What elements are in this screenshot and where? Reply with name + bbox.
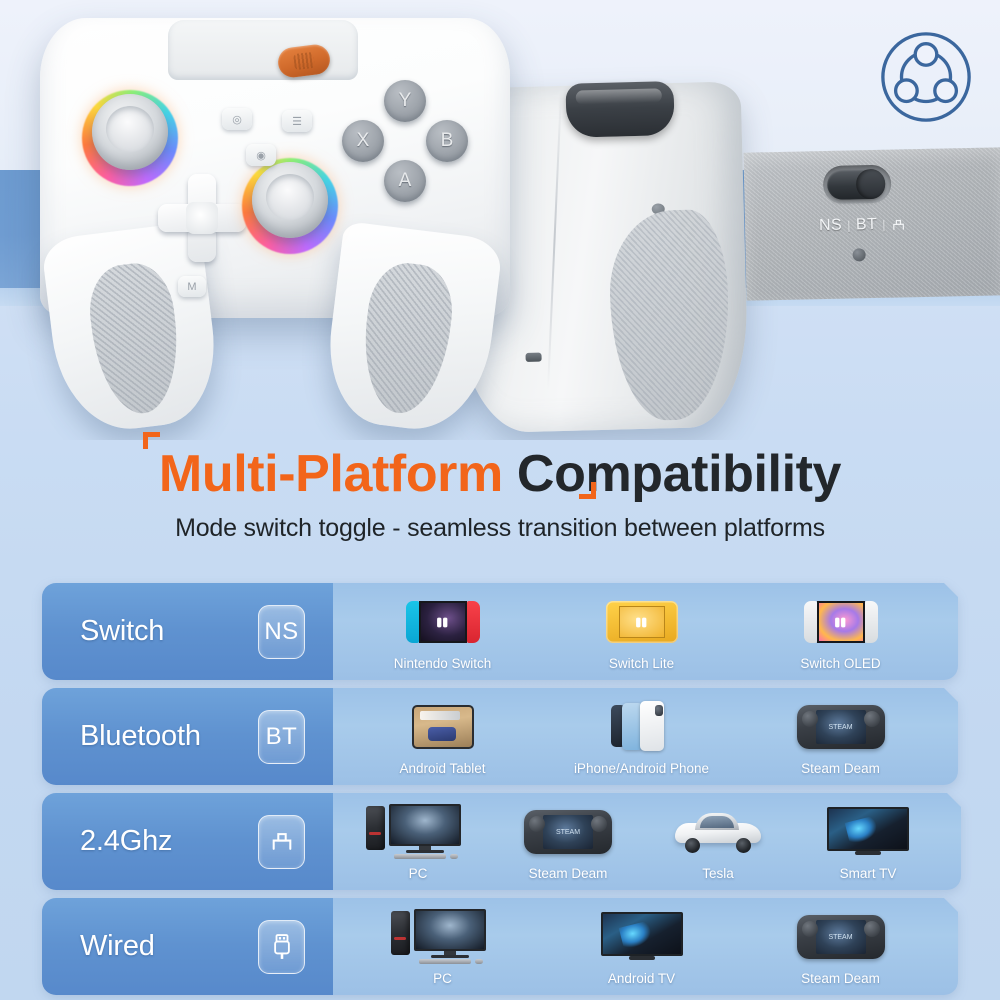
row-device-panel: Android Tablet iPhone/Android Phone STEA… [333, 688, 958, 785]
mode-switch-toggle[interactable] [823, 165, 892, 204]
status-badge: BT [258, 710, 305, 764]
controller-top-panel [168, 20, 358, 80]
dongle-icon [891, 218, 906, 231]
row-label-panel: Wired [42, 898, 333, 995]
rear-seam [547, 90, 562, 390]
list-item-label: Android TV [608, 971, 675, 986]
headline-section: Multi-Platform Compatibility Mode switch… [0, 448, 1000, 543]
list-item: Switch Lite [567, 593, 717, 671]
row-label-panel: Bluetooth BT [42, 688, 333, 785]
usb-cable-icon [271, 933, 293, 961]
controller-front-view: Y X B A ◎ ☰ ◉ M [40, 18, 510, 430]
steam-deck-icon: STEAM [797, 698, 885, 756]
usb-dongle-icon [270, 831, 294, 852]
mode-switch-plate: NS | BT | [743, 147, 1000, 300]
row-label: Bluetooth [80, 720, 201, 753]
row-device-panel: PC STEAM Steam Deam Tesla Smart TV [333, 793, 961, 890]
row-label-panel: 2.4Ghz [42, 793, 333, 890]
status-badge [258, 920, 305, 974]
android-tv-icon [601, 908, 683, 966]
smart-tv-icon [827, 803, 909, 861]
capture-icon: ◉ [246, 144, 276, 166]
toggle-knob[interactable] [827, 169, 886, 200]
list-item-label: Tesla [702, 866, 734, 881]
stick-cap [92, 94, 168, 170]
product-infographic: NS | BT | [0, 0, 1000, 1000]
list-item-label: Nintendo Switch [394, 656, 492, 671]
table-row: Bluetooth BT Android Tablet iPhone/Andro… [42, 688, 958, 785]
mode-switch-legend: NS | BT | [819, 215, 939, 236]
legend-ns: NS [819, 217, 843, 235]
page-title: Multi-Platform Compatibility [159, 448, 841, 500]
button-b: B [426, 120, 468, 162]
button-a: A [384, 160, 426, 202]
pc-icon [366, 803, 470, 861]
row-device-panel: PC Android TV STEAM Steam Deam [333, 898, 958, 995]
list-item: STEAM Steam Deam [766, 698, 916, 776]
steam-deck-icon: STEAM [797, 908, 885, 966]
rear-screw [652, 203, 665, 214]
list-item-label: Switch OLED [800, 656, 880, 671]
list-item: PC [343, 803, 493, 881]
bracket-top-left-icon [143, 432, 160, 449]
menu-icon: ☰ [282, 110, 312, 132]
list-item: Nintendo Switch [368, 593, 518, 671]
switch-lite-icon [606, 593, 678, 651]
legend-separator-2: | [882, 218, 886, 232]
table-row: Switch NS Nintendo Switch [42, 583, 958, 680]
title-rest: Compatibility [517, 445, 841, 503]
tablet-icon [412, 698, 474, 756]
list-item: Switch OLED [766, 593, 916, 671]
table-row: Wired [42, 898, 958, 995]
bracket-bottom-right-icon [579, 482, 596, 499]
dpad-center [186, 202, 218, 234]
right-analog-stick [242, 158, 338, 254]
share-nodes-icon [877, 28, 975, 126]
macro-button: M [178, 276, 206, 297]
list-item-label: PC [409, 866, 428, 881]
legend-separator: | [847, 218, 851, 232]
pc-icon [391, 908, 495, 966]
switch-neon-icon [406, 593, 480, 651]
rear-port [525, 353, 541, 362]
list-item: STEAM Steam Deam [493, 803, 643, 881]
headline-block: Multi-Platform Compatibility [159, 448, 841, 500]
grip-texture [356, 259, 458, 418]
list-item: Tesla [643, 803, 793, 881]
phones-icon [611, 698, 673, 756]
button-x: X [342, 120, 384, 162]
legend-bt: BT [856, 216, 878, 234]
tesla-car-icon [675, 803, 761, 861]
list-item-label: PC [433, 971, 452, 986]
table-row: 2.4Ghz PC [42, 793, 958, 890]
page-subtitle: Mode switch toggle - seamless transition… [0, 514, 1000, 543]
button-y: Y [384, 80, 426, 122]
list-item: Smart TV [793, 803, 943, 881]
stick-cap [252, 162, 328, 238]
list-item: iPhone/Android Phone [567, 698, 717, 776]
status-badge: NS [258, 605, 305, 659]
list-item: Android TV [567, 908, 717, 986]
shoulder-bumper [565, 81, 674, 138]
compatibility-table: Switch NS Nintendo Switch [42, 583, 958, 1000]
list-item: Android Tablet [368, 698, 518, 776]
face-buttons: Y X B A [340, 80, 472, 212]
list-item: STEAM Steam Deam [766, 908, 916, 986]
screenshot-icon: ◎ [222, 108, 252, 130]
list-item: PC [368, 908, 518, 986]
list-item-label: Android Tablet [399, 761, 485, 776]
right-grip [321, 221, 504, 437]
row-label-panel: Switch NS [42, 583, 333, 680]
row-device-panel: Nintendo Switch Switch Lite [333, 583, 958, 680]
title-highlight: Multi-Platform [159, 445, 503, 503]
hero-image: NS | BT | [0, 0, 1000, 440]
grip-texture [84, 259, 186, 418]
list-item-label: Steam Deam [801, 971, 880, 986]
steam-deck-icon: STEAM [524, 803, 612, 861]
dpad [156, 172, 248, 264]
row-label: Wired [80, 930, 155, 963]
plate-screw [853, 248, 866, 261]
row-label: Switch [80, 615, 164, 648]
status-badge [258, 815, 305, 869]
list-item-label: Steam Deam [801, 761, 880, 776]
row-label: 2.4Ghz [80, 825, 172, 858]
switch-oled-icon [804, 593, 878, 651]
list-item-label: Switch Lite [609, 656, 674, 671]
list-item-label: Steam Deam [529, 866, 608, 881]
list-item-label: iPhone/Android Phone [574, 761, 709, 776]
list-item-label: Smart TV [840, 866, 897, 881]
